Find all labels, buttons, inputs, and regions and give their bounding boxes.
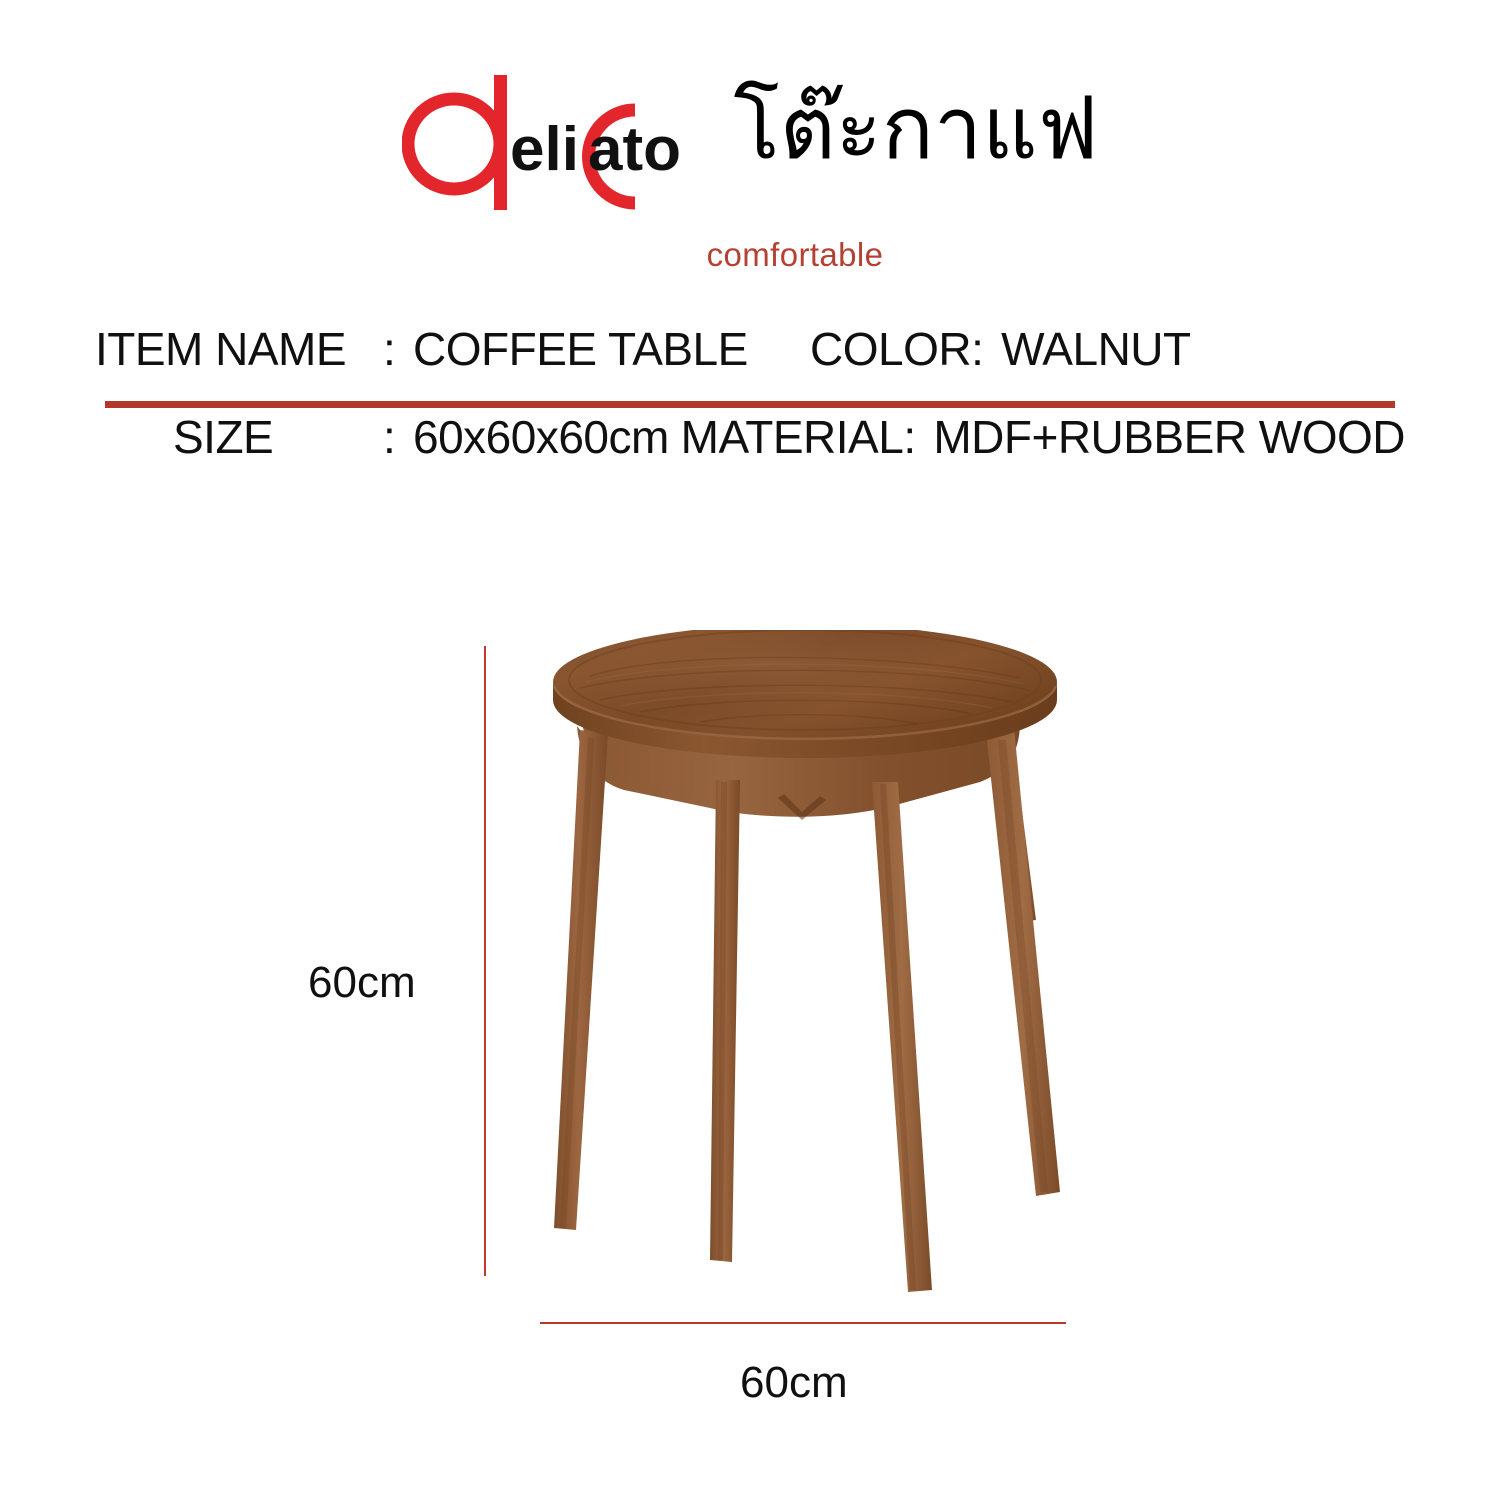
logo-text-eli: eli [510,115,579,184]
spec-value-color: WALNUT [1001,322,1191,376]
height-guide-line [484,646,486,1276]
spec-sep: : [971,322,1001,376]
delicato-logo-svg: eli ato [402,72,702,212]
spec-sep: : [383,322,413,376]
spec-item-name: ITEM NAME : COFFEE TABLE [95,322,810,376]
height-dimension-label: 60cm [308,958,416,1008]
logo-text-ato: ato [588,115,681,184]
product-spec-page: eli ato โต๊ะกาแฟ comfortable ITEM NAME :… [0,0,1500,1500]
table-leg-front-left [710,780,740,1262]
spec-row-2: SIZE : 60x60x60cm MATERIAL : MDF+RUBBER … [95,410,1405,480]
logo-letter-d [408,75,507,210]
coffee-table-illustration [520,630,1100,1320]
width-dimension-label: 60cm [740,1358,848,1408]
table-leg-side-right [986,728,1060,1196]
spec-value-item-name: COFFEE TABLE [413,322,748,376]
spec-sep: : [903,410,933,464]
spec-row-1: ITEM NAME : COFFEE TABLE COLOR : WALNUT [95,322,1405,392]
width-guide-line [540,1322,1066,1324]
spec-label-color: COLOR [810,322,971,376]
table-leg-front-right [872,782,932,1292]
thai-product-title: โต๊ะกาแฟ [734,86,1099,172]
spec-value-size: 60x60x60cm [413,410,669,464]
spec-value-material: MDF+RUBBER WOOD [933,410,1405,464]
brand-header: eli ato โต๊ะกาแฟ [0,72,1500,212]
table-leg-side-left [554,730,608,1230]
spec-label-material: MATERIAL [681,410,904,464]
spec-label-size: SIZE [95,410,383,464]
spec-size: SIZE : 60x60x60cm [95,410,681,464]
tagline: comfortable [0,236,1500,274]
product-image [520,630,1100,1320]
spec-material: MATERIAL : MDF+RUBBER WOOD [681,410,1405,464]
delicato-logo: eli ato [402,72,702,212]
spec-label-item-name: ITEM NAME [95,322,383,376]
spec-sep: : [383,410,413,464]
spec-color: COLOR : WALNUT [810,322,1191,376]
spec-divider [105,401,1395,408]
